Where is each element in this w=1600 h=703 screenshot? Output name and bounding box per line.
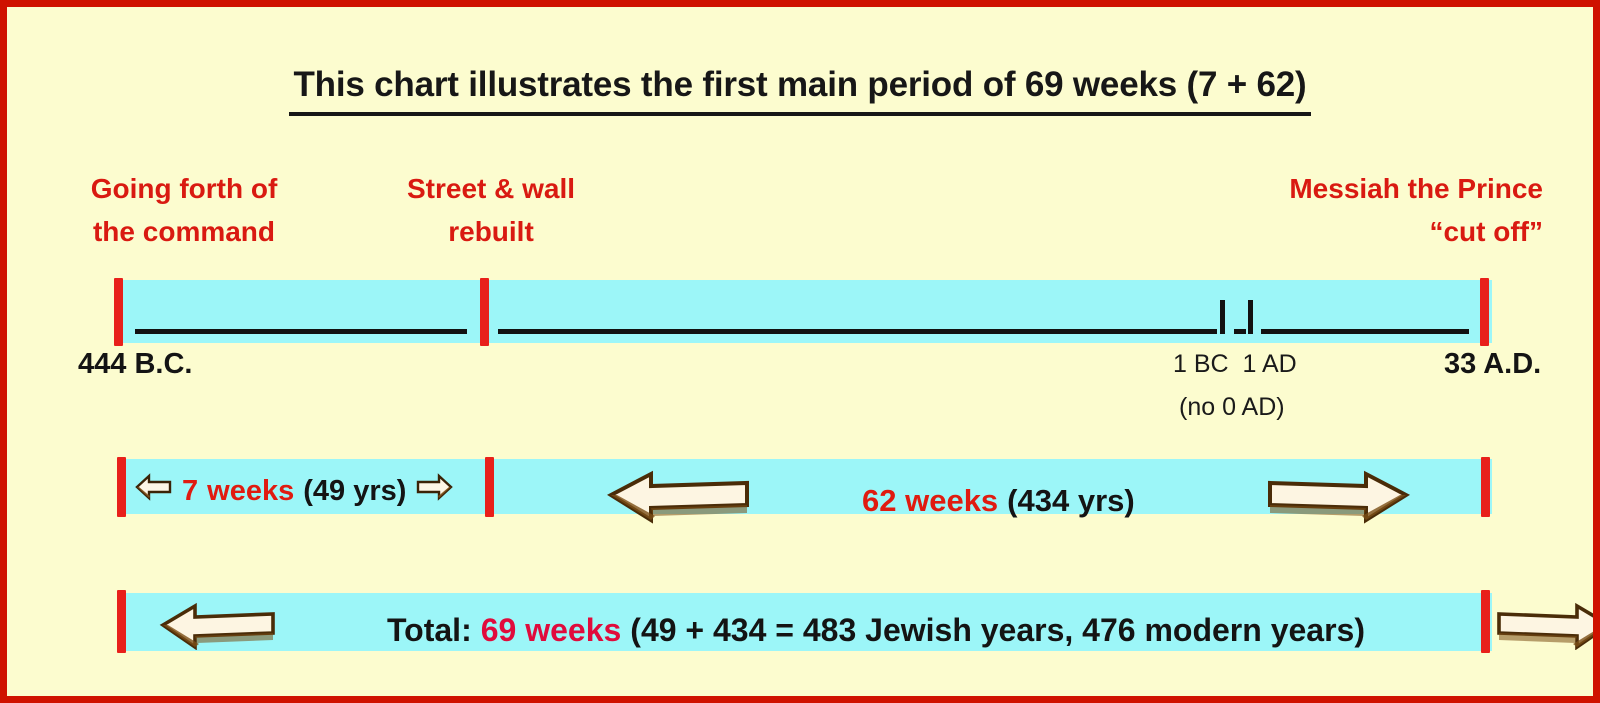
segment-62-weeks-number: 62 weeks	[862, 483, 998, 519]
timeline-baseline-second-period	[498, 329, 1217, 334]
era-tick-1ad	[1248, 300, 1253, 334]
arrow-right-icon	[1495, 602, 1600, 658]
timeline-baseline-first-period	[135, 329, 467, 334]
total-caption: Total: 69 weeks (49 + 434 = 483 Jewish y…	[159, 602, 1600, 658]
chart-canvas: This chart illustrates the first main pe…	[0, 0, 1600, 703]
total-detail: (49 + 434 = 483 Jewish years, 476 modern…	[630, 612, 1365, 649]
page-title-text: This chart illustrates the first main pe…	[289, 65, 1310, 116]
date-label-end: 33 A.D.	[1444, 348, 1541, 381]
arrow-right-icon	[1265, 469, 1410, 533]
date-label-start: 444 B.C.	[78, 348, 192, 381]
arrow-left-icon	[159, 602, 277, 658]
segment-tick-middle	[485, 457, 494, 517]
total-weeks: 69 weeks	[481, 612, 622, 649]
segment-62-weeks-caption: 62 weeks (434 yrs)	[607, 469, 1410, 533]
timeline-tick-start	[114, 278, 123, 346]
segment-7-weeks-word: weeks	[207, 475, 294, 508]
timeline-baseline-era-gap	[1234, 329, 1246, 334]
segment-7-weeks-number: 7	[182, 475, 198, 508]
total-prefix: Total:	[387, 612, 472, 649]
segment-62-weeks-years: (434 yrs)	[1007, 483, 1135, 519]
arrow-left-icon	[607, 469, 752, 533]
date-label-era-boundary: 1 BC 1 AD	[1173, 350, 1297, 379]
segment-tick-end	[1481, 457, 1490, 517]
arrow-right-icon	[415, 472, 453, 510]
arrow-left-icon	[135, 472, 173, 510]
total-tick-start	[117, 590, 126, 653]
page-title: This chart illustrates the first main pe…	[7, 65, 1593, 116]
segment-tick-start	[117, 457, 126, 517]
era-tick-1bc	[1220, 300, 1225, 334]
event-label-command: Going forth of the command	[69, 167, 299, 254]
event-label-rebuilt: Street & wall rebuilt	[377, 167, 605, 254]
segment-7-weeks-years: (49 yrs)	[303, 475, 406, 508]
timeline-tick-end	[1480, 278, 1489, 346]
segment-7-weeks-caption: 7 weeks (49 yrs)	[135, 472, 453, 510]
timeline-baseline-ad-period	[1261, 329, 1469, 334]
date-label-era-note: (no 0 AD)	[1179, 393, 1285, 422]
timeline-tick-middle	[480, 278, 489, 346]
event-label-messiah: Messiah the Prince “cut off”	[1123, 167, 1543, 254]
